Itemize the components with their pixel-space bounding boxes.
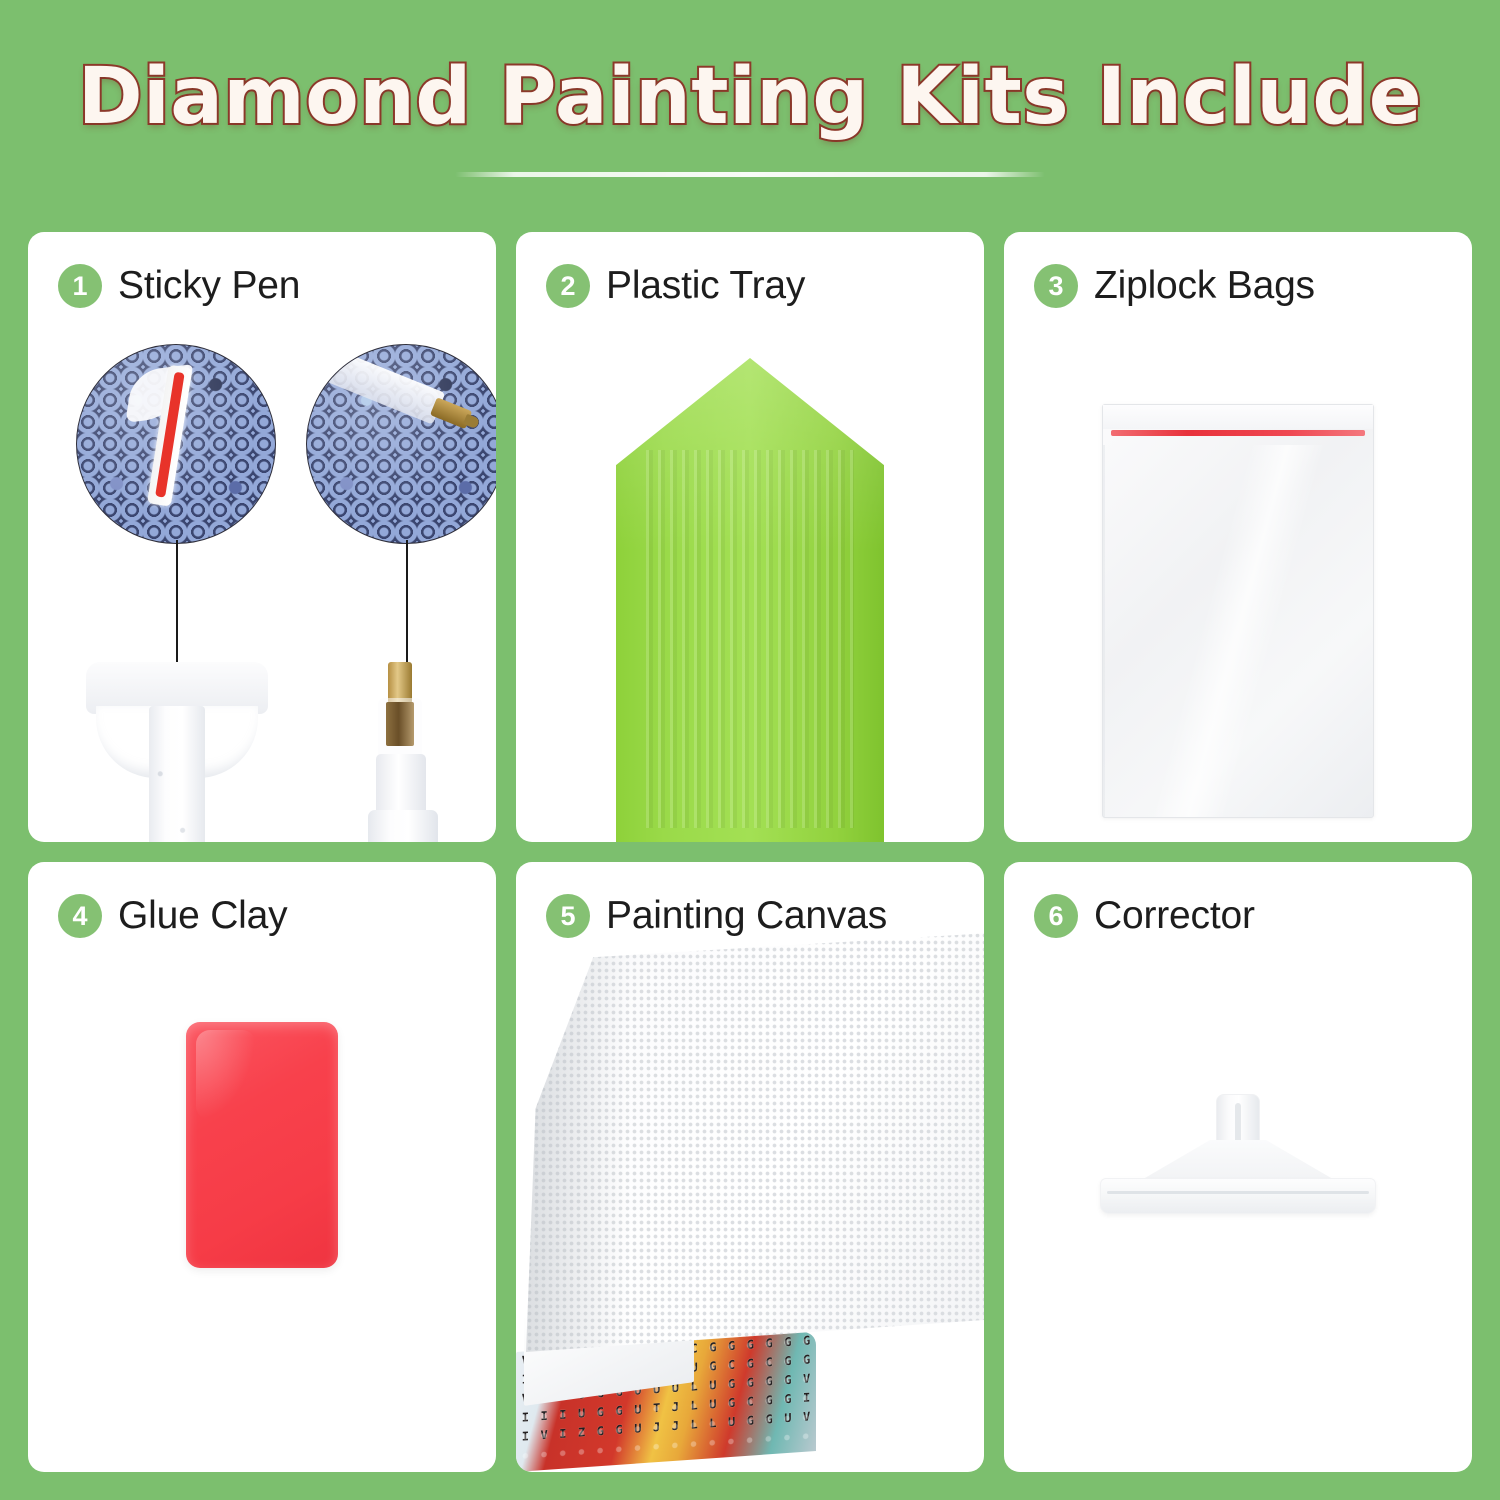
ziplock-bag-illustration — [1004, 232, 1472, 842]
bag-zip-strip — [1111, 430, 1365, 436]
corrector-illustration — [1004, 862, 1472, 1472]
corrector-blade — [1100, 1178, 1376, 1214]
card-title: Glue Clay — [118, 894, 287, 938]
badge-number: 5 — [546, 894, 590, 938]
card-title: Corrector — [1094, 894, 1255, 938]
card-header: 4 Glue Clay — [58, 894, 287, 938]
painting-canvas-illustration: VVIIJGGGGCGGGGGGIIITGGGGGUGCGCGGVIVUGGOU… — [516, 862, 984, 1472]
card-corrector[interactable]: 6 Corrector — [1004, 862, 1472, 1472]
card-header: 5 Painting Canvas — [546, 894, 887, 938]
corrector-tool-icon — [1100, 1094, 1376, 1214]
badge-number: 6 — [1034, 894, 1078, 938]
pen-mid-section — [376, 754, 426, 816]
card-sticky-pen[interactable]: 1 Sticky Pen — [28, 232, 496, 842]
card-title: Plastic Tray — [606, 264, 805, 308]
title-divider — [455, 172, 1045, 177]
glue-clay-illustration — [28, 862, 496, 1472]
glitter-speckles — [149, 706, 205, 842]
leader-line-right — [406, 540, 408, 668]
sticky-pen-head — [86, 662, 268, 842]
plastic-tray-illustration — [516, 232, 984, 842]
card-title: Painting Canvas — [606, 894, 887, 938]
clay-highlight — [196, 1030, 256, 1120]
pen-inner-tip — [386, 702, 414, 746]
card-header: 3 Ziplock Bags — [1034, 264, 1315, 308]
tray-sheen — [616, 358, 884, 842]
pen-grip — [368, 810, 438, 842]
card-glue-clay[interactable]: 4 Glue Clay — [28, 862, 496, 1472]
badge-number: 4 — [58, 894, 102, 938]
corrector-shoulder — [1138, 1140, 1338, 1182]
card-painting-canvas[interactable]: 5 Painting Canvas VVIIJGGGGCGGGGGGIIITGG… — [516, 862, 984, 1472]
card-title: Sticky Pen — [118, 264, 300, 308]
leader-line-left — [176, 540, 178, 668]
glue-clay-icon — [186, 1022, 338, 1268]
card-header: 6 Corrector — [1034, 894, 1255, 938]
badge-number: 2 — [546, 264, 590, 308]
infographic-page: Diamond Painting Kits Include 1 Sticky P… — [0, 0, 1500, 1500]
bag-lip — [1103, 405, 1373, 429]
corrector-edge — [1107, 1191, 1369, 1194]
sticky-pen-body — [350, 662, 462, 842]
card-ziplock-bags[interactable]: 3 Ziplock Bags — [1004, 232, 1472, 842]
card-title: Ziplock Bags — [1094, 264, 1315, 308]
corrector-slot — [1235, 1103, 1241, 1143]
badge-number: 1 — [58, 264, 102, 308]
page-title: Diamond Painting Kits Include — [0, 52, 1500, 142]
ziplock-bag-icon — [1102, 404, 1374, 818]
pen-head-stem — [149, 706, 205, 842]
header: Diamond Painting Kits Include — [0, 0, 1500, 232]
card-header: 1 Sticky Pen — [58, 264, 300, 308]
zoom-circle-corrector-icon — [76, 344, 276, 544]
kit-items-grid: 1 Sticky Pen — [28, 232, 1472, 1472]
tray-shape-icon — [616, 358, 884, 842]
sticky-pen-illustration — [28, 232, 496, 842]
canvas-sheet-icon — [526, 932, 984, 1352]
bag-folds — [1103, 445, 1373, 817]
zoom-circle-pen-tip-icon — [306, 344, 496, 544]
card-plastic-tray[interactable]: 2 Plastic Tray — [516, 232, 984, 842]
canvas-curl-shadow — [526, 932, 646, 1352]
badge-number: 3 — [1034, 264, 1078, 308]
card-header: 2 Plastic Tray — [546, 264, 805, 308]
